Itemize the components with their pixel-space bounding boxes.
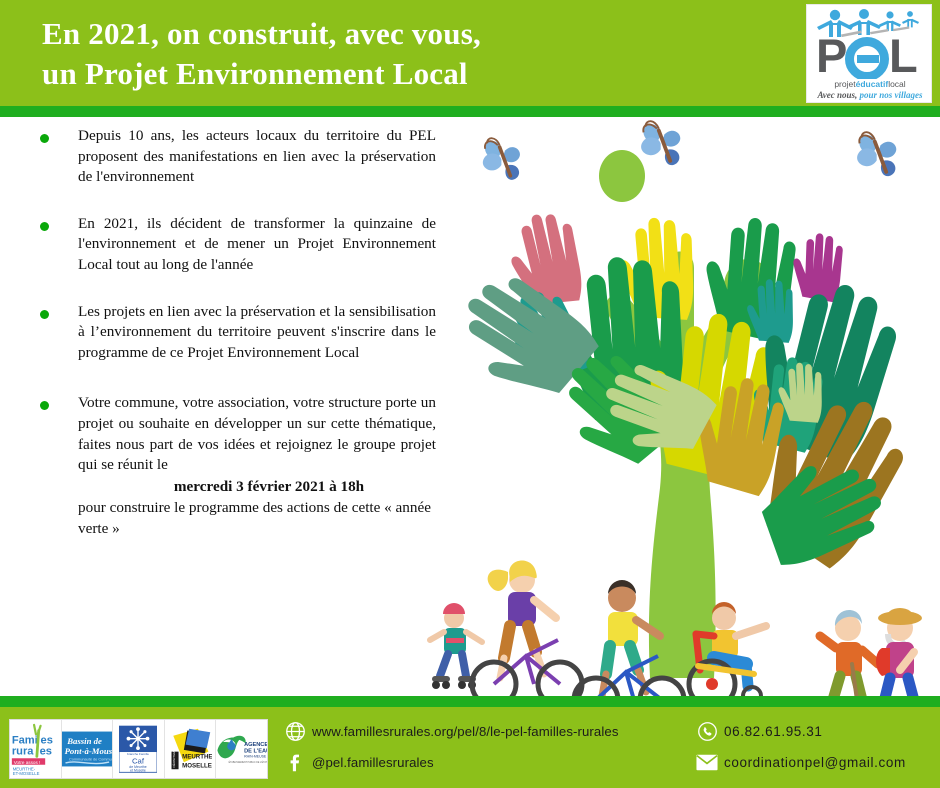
contact-right-column: 06.82.61.95.31 coordinationpel@gmail.com — [690, 716, 940, 778]
contact-facebook[interactable]: @pel.famillesrurales — [278, 747, 678, 778]
poster: En 2021, on construit, avec vous, un Pro… — [0, 0, 940, 788]
familles-rurales-logo: Fami es rura es Votre assos ! MEURTHE- E… — [10, 723, 60, 775]
list-item: En 2021, ils décident de transformer la … — [36, 214, 436, 276]
contact-phone[interactable]: 06.82.61.95.31 — [690, 716, 940, 747]
phone-icon — [690, 719, 724, 745]
pel-logo-tagline: projetéducatiflocal — [807, 79, 932, 89]
svg-text:Communauté de Communes: Communauté de Communes — [69, 757, 113, 761]
bullet-dot-icon — [40, 134, 49, 143]
svg-text:branche Famille: branche Famille — [127, 752, 149, 756]
bullet-dot-icon — [40, 401, 49, 410]
pel-logo-wordmark: P L — [807, 27, 932, 79]
meeting-date: mercredi 3 février 2021 à 18h — [78, 477, 436, 498]
facebook-handle[interactable]: @pel.famillesrurales — [312, 755, 434, 770]
tree-of-hands-svg — [418, 118, 940, 696]
svg-text:rura: rura — [12, 746, 34, 758]
svg-text:es: es — [40, 746, 52, 758]
svg-text:DÉPARTEMENT: DÉPARTEMENT — [171, 745, 176, 767]
agence-de-leau-rhin-meuse-logo: AGENCE DE L'EAU RHIN-MEUSE ÉTABLISSEMENT… — [216, 729, 267, 769]
hand-print — [792, 232, 843, 302]
bullet-text: Votre commune, votre association, votre … — [78, 393, 436, 475]
svg-text:AGENCE: AGENCE — [244, 742, 266, 748]
contact-website[interactable]: www.famillesrurales.org/pel/8/le-pel-fam… — [278, 716, 678, 747]
header-divider-rule — [0, 106, 940, 117]
bullet-text: Les projets en lien avec la préservation… — [78, 302, 436, 364]
partner-logo-bassin-pont-a-mousson: Bassin de Pont-à-Mousson Communauté de C… — [62, 720, 114, 778]
svg-text:Pont-à-Mousson: Pont-à-Mousson — [64, 746, 112, 756]
butterfly-icon — [483, 138, 520, 180]
departement-meurthe-et-moselle-logo: DÉPARTEMENT MEURTHE MOSELLE — [168, 727, 212, 771]
partner-logo-strip: Fami es rura es Votre assos ! MEURTHE- E… — [9, 719, 268, 779]
bullet-text-extra: mercredi 3 février 2021 à 18h pour const… — [78, 477, 436, 540]
globe-icon — [278, 719, 312, 745]
page-title: En 2021, on construit, avec vous, un Pro… — [42, 14, 662, 94]
contact-web-column: www.famillesrurales.org/pel/8/le-pel-fam… — [278, 716, 678, 778]
tree-of-hands-illustration — [418, 118, 940, 696]
svg-text:ET-MOSELLE: ET-MOSELLE — [13, 771, 40, 775]
svg-text:P: P — [816, 29, 847, 79]
figure-elderly-woman-walking — [820, 610, 878, 696]
svg-text:et Moselle: et Moselle — [131, 768, 147, 772]
list-item: Les projets en lien avec la préservation… — [36, 302, 436, 364]
svg-text:MEURTHE: MEURTHE — [182, 754, 212, 761]
page-title-line-2: un Projet Environnement Local — [42, 54, 662, 94]
facebook-icon — [278, 750, 312, 776]
contact-email[interactable]: coordinationpel@gmail.com — [690, 747, 940, 778]
butterfly-icon — [857, 132, 896, 176]
bullet-dot-icon — [40, 222, 49, 231]
partner-logo-departement-54: DÉPARTEMENT MEURTHE MOSELLE — [165, 720, 217, 778]
footer-divider-rule — [0, 696, 940, 707]
bullet-text: Depuis 10 ans, les acteurs locaux du ter… — [78, 126, 436, 188]
caf-logo: branche Famille Caf de Meurthe et Mosell… — [119, 725, 157, 773]
bullet-list: Depuis 10 ans, les acteurs locaux du ter… — [36, 126, 436, 562]
page-title-line-1: En 2021, on construit, avec vous, — [42, 14, 662, 54]
partner-logo-caf: branche Famille Caf de Meurthe et Mosell… — [113, 720, 165, 778]
partner-logo-agence-de-leau: AGENCE DE L'EAU RHIN-MEUSE ÉTABLISSEMENT… — [216, 720, 267, 778]
envelope-icon — [690, 750, 724, 776]
bullet-text-tail: pour construire le programme des actions… — [78, 498, 436, 539]
pel-logo-slogan: Avec nous, pour nos villages — [807, 90, 932, 100]
butterfly-icon — [641, 121, 680, 165]
phone-number[interactable]: 06.82.61.95.31 — [724, 724, 822, 739]
pel-logo: P L projetéducatiflocal Avec nous, pour … — [806, 4, 932, 103]
svg-text:DE L'EAU: DE L'EAU — [244, 749, 266, 755]
figure-cyclist-woman — [472, 561, 582, 696]
svg-text:MOSELLE: MOSELLE — [182, 762, 212, 769]
bullet-text: En 2021, ils décident de transformer la … — [78, 214, 436, 276]
list-item: Votre commune, votre association, votre … — [36, 393, 436, 539]
website-url[interactable]: www.famillesrurales.org/pel/8/le-pel-fam… — [312, 724, 619, 739]
svg-text:Votre assos !: Votre assos ! — [14, 760, 41, 765]
list-item: Depuis 10 ans, les acteurs locaux du ter… — [36, 126, 436, 188]
partner-logo-familles-rurales: Fami es rura es Votre assos ! MEURTHE- E… — [10, 720, 62, 778]
email-address[interactable]: coordinationpel@gmail.com — [724, 755, 906, 770]
svg-text:L: L — [889, 29, 918, 79]
bassin-pont-a-mousson-logo: Bassin de Pont-à-Mousson Communauté de C… — [62, 731, 113, 767]
svg-text:RHIN-MEUSE: RHIN-MEUSE — [244, 754, 266, 758]
svg-text:Bassin de: Bassin de — [66, 736, 102, 746]
bullet-dot-icon — [40, 310, 49, 319]
svg-text:ÉTABLISSEMENT PUBLIC DE L'ÉTAT: ÉTABLISSEMENT PUBLIC DE L'ÉTAT — [229, 761, 267, 764]
